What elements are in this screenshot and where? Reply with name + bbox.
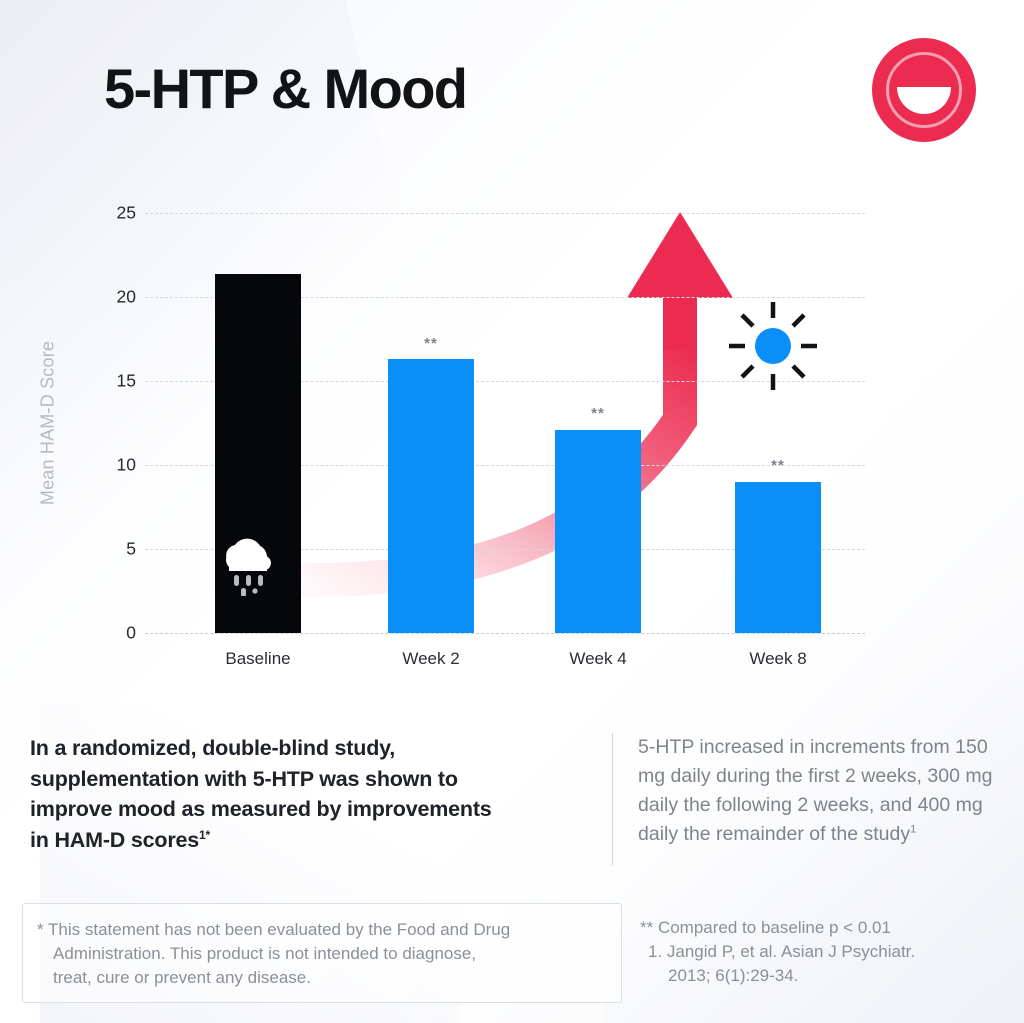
claim-line-3: improve mood as measured by improvements [30,797,492,821]
significance-week-2: ** [424,335,438,352]
y-axis-tick-labels: 25 20 15 10 5 0 [88,213,136,633]
reference-1-line-1: 1. Jangid P, et al. Asian J Psychiatr. [640,940,1020,964]
significance-note: ** Compared to baseline p < 0.01 [640,916,1020,940]
significance-week-8: ** [771,457,785,474]
sun-icon [725,298,821,394]
references-block: ** Compared to baseline p < 0.01 1. Jang… [640,916,1020,988]
claim-line-2: supplementation with 5-HTP was shown to [30,767,458,791]
claim-superscript: 1* [199,827,210,841]
disclaimer-line-1: * This statement has not been evaluated … [37,918,605,942]
y-tick-20: 20 [117,287,136,308]
claim-line-4: in HAM-D scores [30,828,199,852]
claim-line-1: In a randomized, double-blind study, [30,736,395,760]
bar-week-2[interactable] [388,359,474,633]
page-title: 5-HTP & Mood [104,60,466,119]
y-tick-10: 10 [117,455,136,476]
x-label-week-8: Week 8 [749,649,806,669]
rain-cloud-icon [219,536,277,596]
y-tick-0: 0 [126,623,136,644]
logo-bowl-shape [897,87,951,114]
gridline-0 [145,633,865,634]
x-label-baseline: Baseline [225,649,290,669]
brand-logo [872,38,976,142]
dosing-superscript: 1 [910,823,916,835]
column-divider [612,733,613,865]
y-tick-15: 15 [117,371,136,392]
x-label-week-2: Week 2 [402,649,459,669]
reference-1-line-2: 2013; 6(1):29-34. [640,964,1020,988]
disclaimer-line-2: Administration. This product is not inte… [37,942,605,966]
y-tick-25: 25 [117,203,136,224]
dosing-detail-text: 5-HTP increased in increments from 150 m… [638,733,1010,848]
x-label-week-4: Week 4 [569,649,626,669]
y-axis-title: Mean HAM-D Score [38,341,59,505]
dosing-body: 5-HTP increased in increments from 150 m… [638,736,992,845]
disclaimer-line-3: treat, cure or prevent any disease. [37,966,605,990]
study-claim-text: In a randomized, double-blind study, sup… [30,733,600,855]
logo-ring [886,52,962,128]
infographic-page: 5-HTP & Mood Mean HAM-D Score [0,0,1024,1023]
bar-week-8[interactable] [735,482,821,633]
gridline-25 [145,213,865,214]
fda-disclaimer-box: * This statement has not been evaluated … [22,903,622,1003]
bar-chart: Mean HAM-D Score 25 20 15 10 5 0 ** ** [0,190,1024,690]
bar-week-4[interactable] [555,430,641,633]
y-tick-5: 5 [126,539,136,560]
significance-week-4: ** [591,405,605,422]
